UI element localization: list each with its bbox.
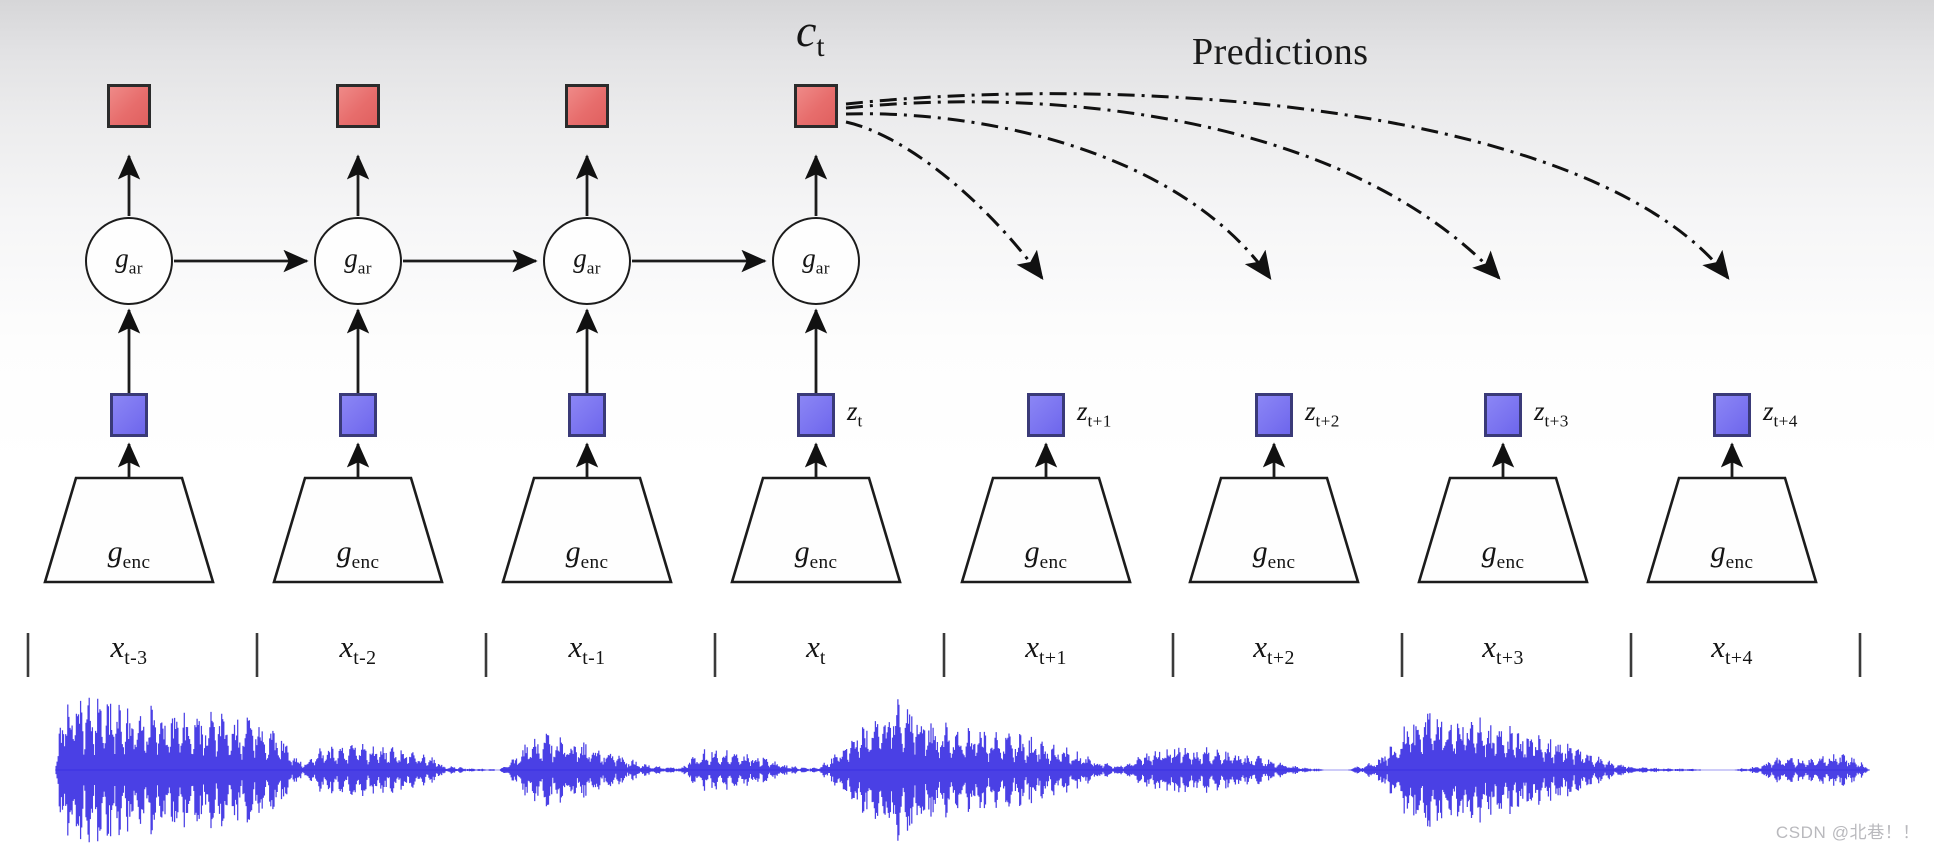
gar-label-1: gar: [344, 245, 372, 277]
latent-square-7[interactable]: [1713, 393, 1751, 437]
encoder-5[interactable]: genc: [1188, 497, 1360, 601]
encoder-6[interactable]: genc: [1417, 497, 1589, 601]
encoder-label-0: genc: [108, 537, 151, 572]
audio-waveform: [55, 698, 1870, 843]
latent-square-0[interactable]: [110, 393, 148, 437]
input-label-4: xt+1: [971, 631, 1121, 669]
gar-circle-2[interactable]: gar: [543, 217, 631, 305]
prediction-arrow-t4: [846, 94, 1728, 278]
gar-to-context-arrows: [129, 156, 816, 216]
context-square-ct[interactable]: [794, 84, 838, 128]
context-square-2[interactable]: [565, 84, 609, 128]
prediction-arrow-t2: [846, 114, 1270, 278]
encoder-label-2: genc: [566, 537, 609, 572]
gar-label-2: gar: [573, 245, 601, 277]
gar-label-3: gar: [802, 245, 830, 277]
gar-circle-0[interactable]: gar: [85, 217, 173, 305]
predictions-label: Predictions: [1192, 30, 1368, 74]
encoder-label-7: genc: [1711, 537, 1754, 572]
gar-label-0: gar: [115, 245, 143, 277]
latent-to-gar-arrows: [129, 310, 816, 393]
gar-circle-3[interactable]: gar: [772, 217, 860, 305]
latent-square-6[interactable]: [1484, 393, 1522, 437]
encoder-label-1: genc: [337, 537, 380, 572]
latent-label-5: zt+2: [1305, 398, 1340, 430]
context-variable-label: ct: [796, 8, 825, 63]
input-label-1: xt-2: [283, 631, 433, 669]
encoder-label-6: genc: [1482, 537, 1525, 572]
gar-circle-1[interactable]: gar: [314, 217, 402, 305]
encoder-1[interactable]: genc: [272, 497, 444, 601]
input-label-0: xt-3: [54, 631, 204, 669]
context-square-0[interactable]: [107, 84, 151, 128]
encoder-label-3: genc: [795, 537, 838, 572]
figure-canvas: ct Predictions gar gar gar gar zt zt+1 z…: [0, 0, 1934, 853]
latent-label-6: zt+3: [1534, 398, 1569, 430]
context-square-1[interactable]: [336, 84, 380, 128]
latent-square-5[interactable]: [1255, 393, 1293, 437]
csdn-watermark: CSDN @北巷！！: [1776, 818, 1920, 843]
encoder-0[interactable]: genc: [43, 497, 215, 601]
encoder-label-4: genc: [1025, 537, 1068, 572]
encoder-3[interactable]: genc: [730, 497, 902, 601]
latent-label-7: zt+4: [1763, 398, 1798, 430]
latent-label-3: zt: [847, 398, 863, 430]
input-label-2: xt-1: [512, 631, 662, 669]
prediction-arrow-t1: [846, 122, 1042, 278]
input-label-7: xt+4: [1657, 631, 1807, 669]
encoder-label-5: genc: [1253, 537, 1296, 572]
encoder-2[interactable]: genc: [501, 497, 673, 601]
prediction-arrow-t3: [846, 102, 1499, 278]
encoder-7[interactable]: genc: [1646, 497, 1818, 601]
input-label-5: xt+2: [1199, 631, 1349, 669]
diagram-vector-layer: [0, 0, 1934, 853]
latent-square-4[interactable]: [1027, 393, 1065, 437]
latent-square-1[interactable]: [339, 393, 377, 437]
input-label-3: xt: [741, 631, 891, 669]
input-label-6: xt+3: [1428, 631, 1578, 669]
encoder-4[interactable]: genc: [960, 497, 1132, 601]
latent-label-4: zt+1: [1077, 398, 1112, 430]
prediction-arrows: [846, 94, 1728, 278]
latent-square-2[interactable]: [568, 393, 606, 437]
encoder-to-latent-arrows: [129, 444, 1732, 478]
latent-square-3[interactable]: [797, 393, 835, 437]
